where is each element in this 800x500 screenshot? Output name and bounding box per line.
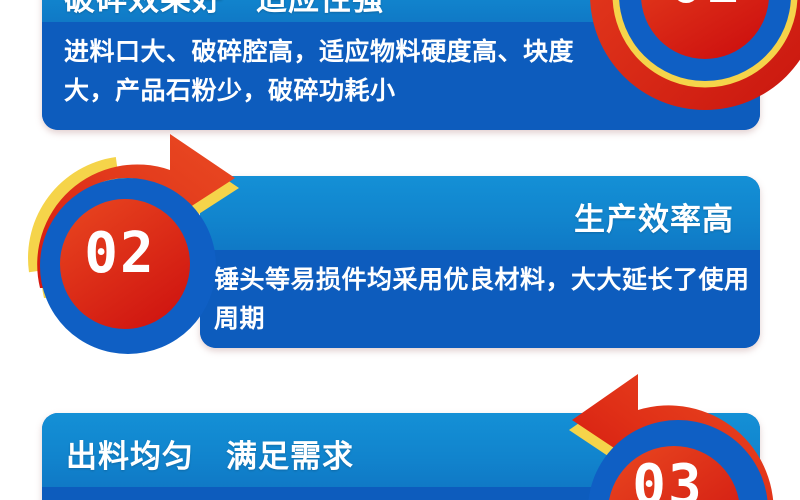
feature-list-infographic: 破碎效果好 适应性强 进料口大、破碎腔高，适应物料硬度高、块度大，产品石粉少，破… — [0, 0, 800, 500]
circular-arrow-icon — [590, 0, 800, 110]
feature-body-01: 进料口大、破碎腔高，适应物料硬度高、块度大，产品石粉少，破碎功耗小 — [64, 32, 624, 110]
feature-badge-03[interactable]: 03 — [528, 372, 798, 500]
feature-card-02[interactable]: 生产效率高 锤头等易损件均采用优良材料，大大延长了使用周期 — [200, 176, 760, 348]
feature-number-03: 03 — [568, 458, 768, 500]
feature-number-02: 02 — [20, 226, 220, 282]
feature-title-01: 破碎效果好 适应性强 — [64, 0, 384, 19]
feature-title-03: 出料均匀 满足需求 — [66, 431, 354, 476]
feature-number-01: 01 — [590, 0, 800, 12]
feature-title-02: 生产效率高 — [574, 194, 734, 239]
feature-badge-02[interactable]: 02 — [20, 148, 240, 368]
feature-body-02: 锤头等易损件均采用优良材料，大大延长了使用周期 — [214, 260, 754, 338]
feature-badge-01[interactable]: 01 — [590, 0, 800, 110]
